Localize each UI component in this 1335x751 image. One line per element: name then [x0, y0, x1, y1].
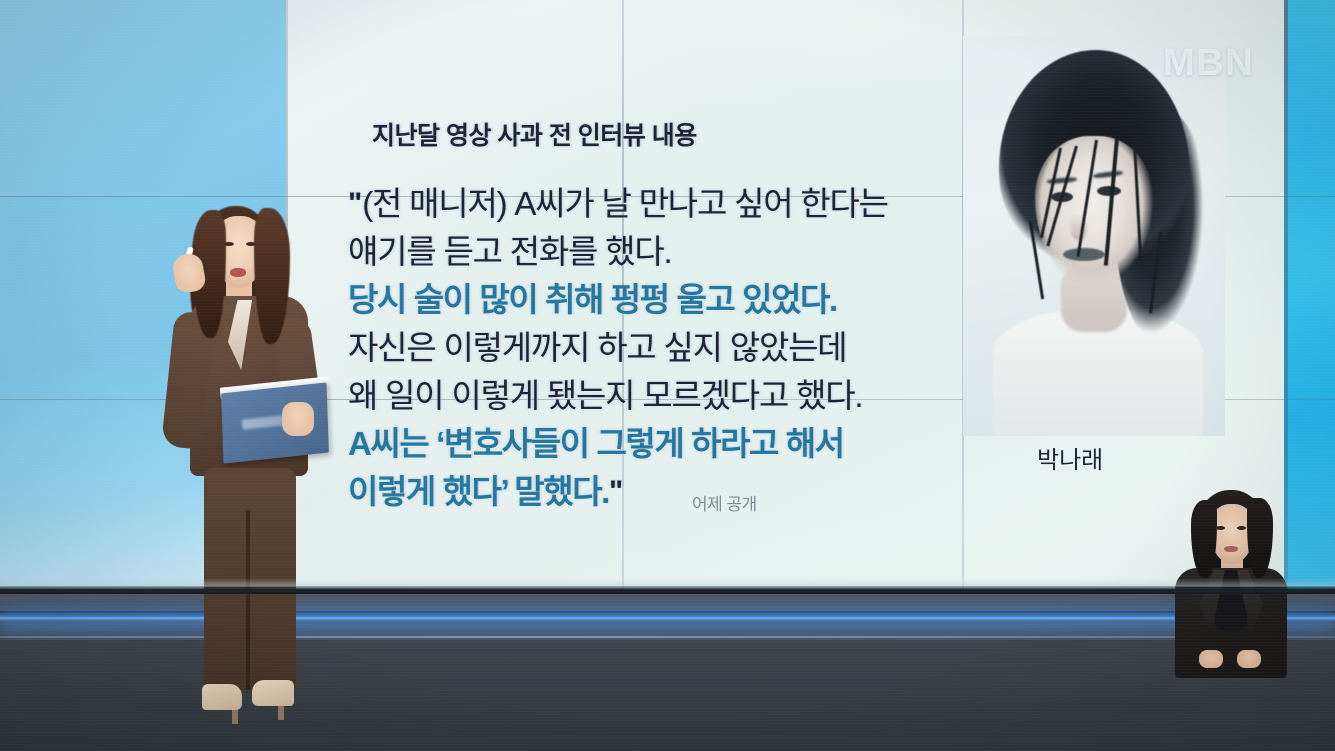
quote-line-2: 얘기를 듣고 전화를 했다.	[348, 228, 988, 276]
subject-name-caption: 박나래	[1037, 440, 1103, 475]
presenter-eye-right	[246, 242, 256, 246]
presenter-mouth	[230, 268, 246, 277]
close-quote-mark: "	[609, 475, 623, 508]
quote-block: "(전 매니저) A씨가 날 만나고 싶어 한다는 얘기를 듣고 전화를 했다.…	[348, 180, 988, 516]
quote-line-5: 왜 일이 이렇게 됐는지 모르겠다고 했다.	[348, 372, 988, 420]
anchor-eye-right	[1237, 526, 1246, 530]
anchor-hair-right	[1247, 498, 1273, 578]
anchor-hand-right	[1237, 650, 1261, 668]
quote-line-1-text: (전 매니저) A씨가 날 만나고 싶어 한다는	[362, 185, 888, 222]
quote-line-7-text: 이렇게 했다’ 말했다.	[348, 473, 609, 510]
anchor-hand-left	[1199, 650, 1223, 668]
subject-portrait-photo	[963, 36, 1225, 436]
presenter-shoe-left	[202, 684, 242, 710]
anchor-mouth	[1224, 546, 1238, 552]
mbn-logo: MBN	[1163, 42, 1254, 85]
presenter-leg-seam	[246, 510, 250, 690]
anchor-eye-left	[1216, 526, 1225, 530]
standing-presenter	[160, 190, 340, 730]
graphic-headline: 지난달 영상 사과 전 인터뷰 내용	[372, 116, 697, 152]
quote-line-4: 자신은 이렇게까지 하고 싶지 않았는데	[348, 324, 988, 372]
wall-bottom-edge	[0, 586, 1335, 594]
presenter-shoe-right	[252, 680, 294, 706]
broadcast-screenshot: 지난달 영상 사과 전 인터뷰 내용 "(전 매니저) A씨가 날 만나고 싶어…	[0, 0, 1335, 751]
quote-line-7-highlight: 이렇게 했다’ 말했다."	[348, 468, 988, 516]
quote-line-1: "(전 매니저) A씨가 날 만나고 싶어 한다는	[348, 180, 988, 228]
open-quote-mark: "	[348, 187, 362, 220]
quote-line-3-highlight: 당시 술이 많이 취해 펑펑 울고 있었다.	[348, 276, 988, 324]
quote-line-6-highlight: A씨는 ‘변호사들이 그렇게 하라고 해서	[348, 420, 988, 468]
source-note: 어제 공개	[692, 490, 757, 515]
portrait-lips	[1063, 248, 1105, 261]
presenter-eye-left	[224, 242, 234, 246]
presenter-hand-right	[282, 402, 314, 436]
